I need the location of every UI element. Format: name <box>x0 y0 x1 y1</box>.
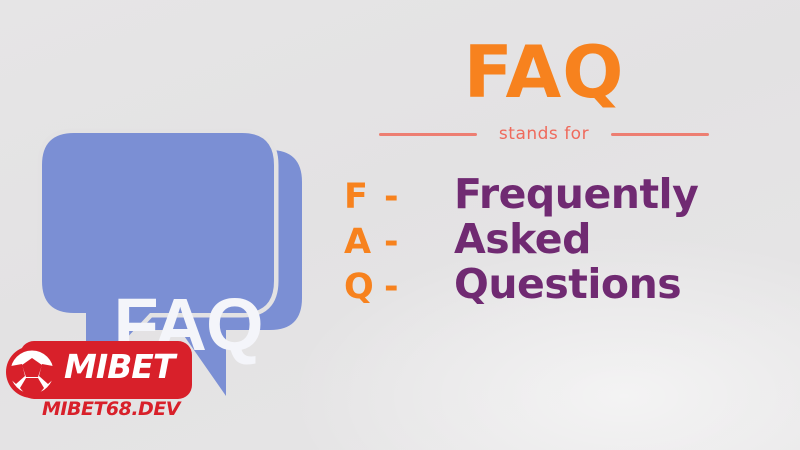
expansion-letter: F <box>344 180 384 215</box>
expansion-dash: - <box>384 225 454 260</box>
expansion-word: Frequently <box>454 174 698 215</box>
divider-rule-right <box>611 133 709 136</box>
stands-for-divider: stands for <box>330 124 730 144</box>
expansion-letter: Q <box>344 270 384 305</box>
expansion-row: F - Frequently <box>344 174 730 219</box>
divider-rule-left <box>379 133 477 136</box>
faq-expansion-list: F - Frequently A - Asked Q - Questions <box>330 174 730 309</box>
expansion-dash: - <box>384 180 454 215</box>
expansion-letter: A <box>344 225 384 260</box>
expansion-word: Asked <box>454 219 591 260</box>
watermark-brand: MIBET <box>64 350 174 383</box>
stands-for-label: stands for <box>477 124 611 144</box>
mibet-watermark: MIBET MIBET68.DEV <box>2 338 202 430</box>
expansion-row: A - Asked <box>344 219 730 264</box>
watermark-domain: MIBET68.DEV <box>42 400 180 419</box>
expansion-word: Questions <box>454 264 681 305</box>
expansion-dash: - <box>384 270 454 305</box>
soccer-ball-icon <box>4 344 60 400</box>
expansion-row: Q - Questions <box>344 264 730 309</box>
faq-headline: FAQ <box>330 36 730 108</box>
infographic-canvas: FAQ FAQ stands for F - Frequently A - As… <box>0 0 800 450</box>
faq-content-column: FAQ stands for F - Frequently A - Asked … <box>330 36 730 309</box>
